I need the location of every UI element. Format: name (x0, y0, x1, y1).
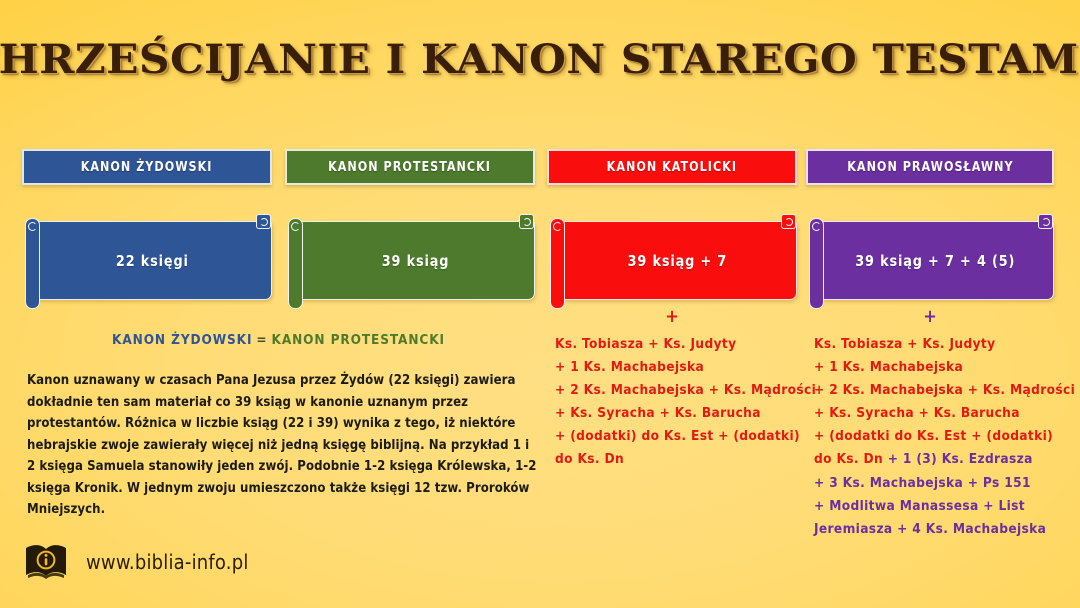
scroll-count-label: 22 księgi (116, 252, 189, 270)
booklist-line: + Ks. Syracha + Ks. Barucha (814, 402, 1076, 425)
plus-separator: + (547, 306, 797, 327)
scroll-right-curl-icon (781, 214, 796, 229)
plus-separator: + (806, 306, 1054, 327)
scroll-right-curl-icon (1038, 214, 1053, 229)
equality-operator: = (252, 332, 271, 348)
scroll-left-roll-icon (809, 218, 824, 309)
scroll-banner-catholic: 39 ksiąg + 7 (547, 214, 797, 307)
booklist-line: + 1 Ks. Machabejska (814, 356, 1076, 379)
booklist-line: do Ks. Dn (555, 448, 817, 471)
booklist-catholic: Ks. Tobiasza + Ks. Judyty + 1 Ks. Machab… (555, 333, 817, 472)
booklist-line: Ks. Tobiasza + Ks. Judyty (555, 333, 817, 356)
booklist-shared-tail: do Ks. Dn (814, 451, 883, 467)
header-chip-jewish[interactable]: KANON ŻYDOWSKI (22, 149, 272, 185)
booklist-extra-line: Jeremiasza + 4 Ks. Machabejska (814, 518, 1076, 541)
booklist-extra-line: + 3 Ks. Machabejska + Ps 151 (814, 472, 1076, 495)
booklist-orthodox: Ks. Tobiasza + Ks. Judyty + 1 Ks. Machab… (814, 333, 1076, 541)
header-chip-catholic[interactable]: KANON KATOLICKI (547, 149, 797, 185)
explanatory-paragraph: Kanon uznawany w czasach Pana Jezusa prz… (27, 370, 539, 521)
scroll-count-label: 39 ksiąg + 7 + 4 (5) (855, 252, 1015, 270)
booklist-line: + (dodatki do Ks. Est + (dodatki) (814, 425, 1076, 448)
canon-equality-statement: KANON ŻYDOWSKI=KANON PROTESTANCKI (22, 332, 535, 348)
booklist-line-mixed: do Ks. Dn + 1 (3) Ks. Ezdrasza (814, 448, 1076, 471)
open-book-info-icon (24, 542, 68, 582)
scroll-banner-protestant: 39 ksiąg (285, 214, 535, 307)
booklist-line: + Ks. Syracha + Ks. Barucha (555, 402, 817, 425)
equality-left-label: KANON ŻYDOWSKI (112, 332, 252, 348)
booklist-extra-line: + 1 (3) Ks. Ezdrasza (888, 451, 1033, 467)
booklist-line: + 1 Ks. Machabejska (555, 356, 817, 379)
booklist-extra-line: + Modlitwa Manassesa + List (814, 495, 1076, 518)
scroll-right-curl-icon (256, 214, 271, 229)
scroll-sheet: 39 ksiąg + 7 + 4 (5) (818, 221, 1054, 300)
header-chip-label: KANON PRAWOSŁAWNY (847, 159, 1013, 175)
booklist-line: + 2 Ks. Machabejska + Ks. Mądrości (555, 379, 817, 402)
scroll-sheet: 22 księgi (34, 221, 272, 300)
website-url[interactable]: www.biblia-info.pl (86, 550, 249, 574)
equality-right-label: KANON PROTESTANCKI (272, 332, 445, 348)
footer: www.biblia-info.pl (24, 538, 249, 586)
scroll-sheet: 39 ksiąg + 7 (559, 221, 797, 300)
scroll-sheet: 39 ksiąg (297, 221, 535, 300)
scroll-count-label: 39 ksiąg + 7 (628, 252, 728, 270)
scroll-count-label: 39 ksiąg (382, 252, 450, 270)
scroll-banner-jewish: 22 księgi (22, 214, 272, 307)
scroll-banner-orthodox: 39 ksiąg + 7 + 4 (5) (806, 214, 1054, 307)
booklist-line: + (dodatki) do Ks. Est + (dodatki) (555, 425, 817, 448)
header-chip-label: KANON KATOLICKI (607, 159, 737, 175)
header-chip-protestant[interactable]: KANON PROTESTANCKI (285, 149, 535, 185)
scroll-left-roll-icon (288, 218, 303, 309)
booklist-line: + 2 Ks. Machabejska + Ks. Mądrości (814, 379, 1076, 402)
infographic-canvas: CHRZEŚCIJANIE I KANON STAREGO TESTAMENTU… (0, 0, 1080, 608)
scroll-left-roll-icon (550, 218, 565, 309)
header-chip-label: KANON ŻYDOWSKI (81, 159, 213, 175)
scroll-right-curl-icon (519, 214, 534, 229)
booklist-line: Ks. Tobiasza + Ks. Judyty (814, 333, 1076, 356)
header-chip-label: KANON PROTESTANCKI (329, 159, 492, 175)
scroll-left-roll-icon (25, 218, 40, 309)
column-catholic: KANON KATOLICKI 39 ksiąg + 7 + Ks. Tobia… (547, 0, 797, 608)
header-chip-orthodox[interactable]: KANON PRAWOSŁAWNY (806, 149, 1054, 185)
column-orthodox: KANON PRAWOSŁAWNY 39 ksiąg + 7 + 4 (5) +… (806, 0, 1054, 608)
